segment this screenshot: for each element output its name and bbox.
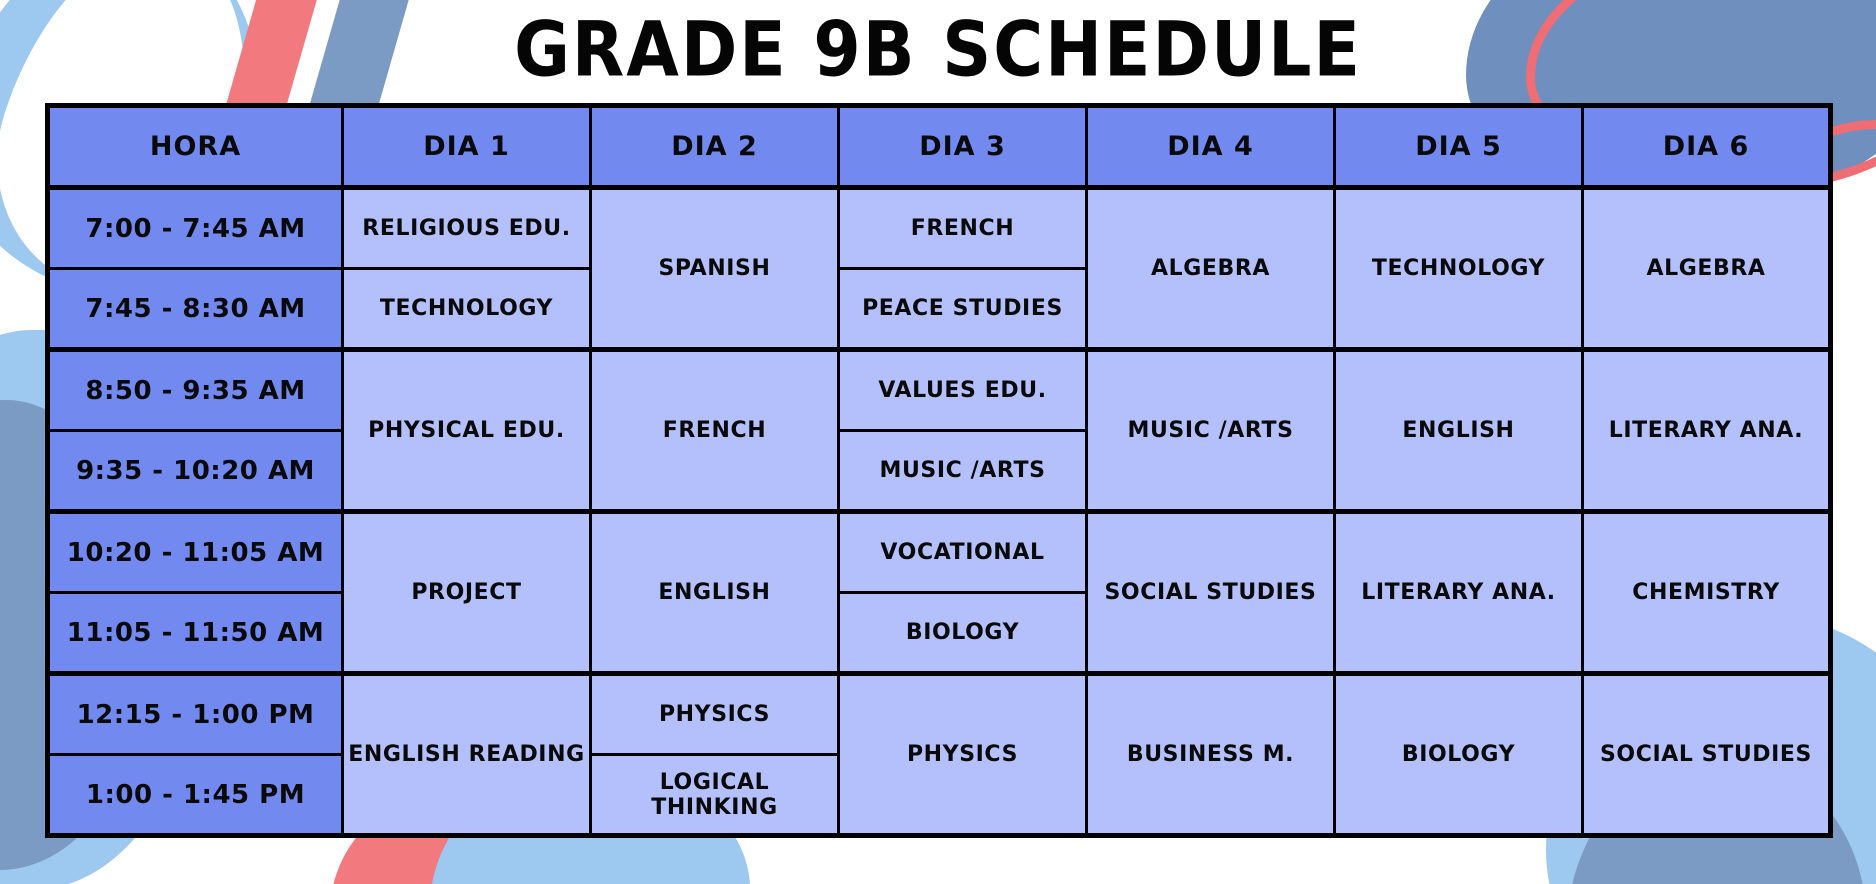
table-row: 12:15 - 1:00 PM ENGLISH READING PHYSICS … <box>48 674 1831 755</box>
cell-dia6-slot7-8: SOCIAL STUDIES <box>1583 674 1831 836</box>
column-header-dia-5: DIA 5 <box>1335 106 1583 188</box>
table-row: 8:50 - 9:35 AM PHYSICAL EDU. FRENCH VALU… <box>48 350 1831 431</box>
cell-dia2-slot7: PHYSICS <box>591 674 839 755</box>
cell-dia1-slot3-4: PHYSICAL EDU. <box>343 350 591 512</box>
time-slot-7: 12:15 - 1:00 PM <box>48 674 343 755</box>
cell-dia5-slot3-4: ENGLISH <box>1335 350 1583 512</box>
time-slot-3: 8:50 - 9:35 AM <box>48 350 343 431</box>
column-header-dia-2: DIA 2 <box>591 106 839 188</box>
cell-dia6-slot3-4: LITERARY ANA. <box>1583 350 1831 512</box>
cell-dia2-slot1-2: SPANISH <box>591 188 839 350</box>
column-header-dia-6: DIA 6 <box>1583 106 1831 188</box>
cell-dia6-slot5-6: CHEMISTRY <box>1583 512 1831 674</box>
cell-dia3-slot4: MUSIC /ARTS <box>839 431 1087 512</box>
table-row: 7:00 - 7:45 AM RELIGIOUS EDU. SPANISH FR… <box>48 188 1831 269</box>
time-slot-8: 1:00 - 1:45 PM <box>48 755 343 836</box>
cell-dia4-slot5-6: SOCIAL STUDIES <box>1087 512 1335 674</box>
cell-dia2-slot3-4: FRENCH <box>591 350 839 512</box>
cell-dia5-slot7-8: BIOLOGY <box>1335 674 1583 836</box>
cell-dia2-slot8: LOGICAL THINKING <box>591 755 839 836</box>
cell-dia4-slot7-8: BUSINESS M. <box>1087 674 1335 836</box>
cell-dia1-slot7-8: ENGLISH READING <box>343 674 591 836</box>
time-slot-6: 11:05 - 11:50 AM <box>48 593 343 674</box>
cell-dia1-slot5-6: PROJECT <box>343 512 591 674</box>
schedule-poster: GRADE 9B SCHEDULE HORA DIA 1 DIA 2 DIA 3… <box>0 0 1876 884</box>
page-title: GRADE 9B SCHEDULE <box>0 6 1876 94</box>
time-slot-4: 9:35 - 10:20 AM <box>48 431 343 512</box>
time-slot-2: 7:45 - 8:30 AM <box>48 269 343 350</box>
cell-dia6-slot1-2: ALGEBRA <box>1583 188 1831 350</box>
cell-dia3-slot7-8: PHYSICS <box>839 674 1087 836</box>
cell-dia3-slot5: VOCATIONAL <box>839 512 1087 593</box>
column-header-dia-1: DIA 1 <box>343 106 591 188</box>
column-header-hora: HORA <box>48 106 343 188</box>
time-slot-5: 10:20 - 11:05 AM <box>48 512 343 593</box>
column-header-dia-4: DIA 4 <box>1087 106 1335 188</box>
table-header-row: HORA DIA 1 DIA 2 DIA 3 DIA 4 DIA 5 DIA 6 <box>48 106 1831 188</box>
schedule-table-container: HORA DIA 1 DIA 2 DIA 3 DIA 4 DIA 5 DIA 6… <box>45 103 1832 838</box>
time-slot-1: 7:00 - 7:45 AM <box>48 188 343 269</box>
table-row: 10:20 - 11:05 AM PROJECT ENGLISH VOCATIO… <box>48 512 1831 593</box>
cell-dia3-slot3: VALUES EDU. <box>839 350 1087 431</box>
schedule-table: HORA DIA 1 DIA 2 DIA 3 DIA 4 DIA 5 DIA 6… <box>45 103 1833 838</box>
cell-dia4-slot1-2: ALGEBRA <box>1087 188 1335 350</box>
cell-dia3-slot6: BIOLOGY <box>839 593 1087 674</box>
cell-dia4-slot3-4: MUSIC /ARTS <box>1087 350 1335 512</box>
cell-dia3-slot1: FRENCH <box>839 188 1087 269</box>
cell-dia3-slot2: PEACE STUDIES <box>839 269 1087 350</box>
cell-dia5-slot1-2: TECHNOLOGY <box>1335 188 1583 350</box>
cell-dia1-slot2: TECHNOLOGY <box>343 269 591 350</box>
cell-dia5-slot5-6: LITERARY ANA. <box>1335 512 1583 674</box>
column-header-dia-3: DIA 3 <box>839 106 1087 188</box>
cell-dia1-slot1: RELIGIOUS EDU. <box>343 188 591 269</box>
cell-dia2-slot5-6: ENGLISH <box>591 512 839 674</box>
